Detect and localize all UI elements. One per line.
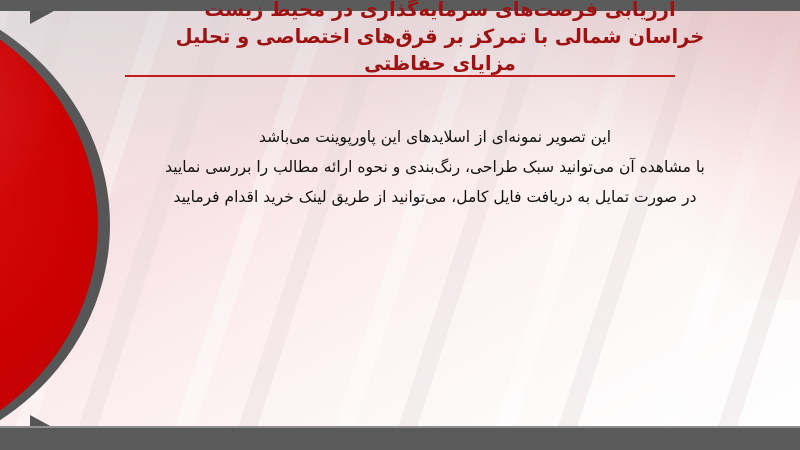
body-line-3: در صورت تمایل به دریافت فایل کامل، می‌تو…: [110, 182, 760, 212]
title-line-2: خراسان شمالی با تمرکز بر قرق‌های اختصاصی…: [110, 23, 770, 50]
title-horizontal-rule: [125, 75, 675, 77]
title-line-3: مزایای حفاظتی: [110, 50, 770, 77]
body-line-2: با مشاهده آن می‌توانید سبک طراحی، رنگ‌بن…: [110, 152, 760, 182]
body-line-1: این تصویر نمونه‌ای از اسلایدهای این پاور…: [110, 122, 760, 152]
slide-content: ارزیابی فرصت‌های سرمایه‌گذاری در محیط زی…: [0, 0, 800, 450]
slide-body-text: این تصویر نمونه‌ای از اسلایدهای این پاور…: [110, 122, 760, 212]
presentation-slide: ارزیابی فرصت‌های سرمایه‌گذاری در محیط زی…: [0, 0, 800, 450]
title-line-1: ارزیابی فرصت‌های سرمایه‌گذاری در محیط زی…: [110, 0, 770, 23]
slide-title: ارزیابی فرصت‌های سرمایه‌گذاری در محیط زی…: [110, 0, 770, 77]
